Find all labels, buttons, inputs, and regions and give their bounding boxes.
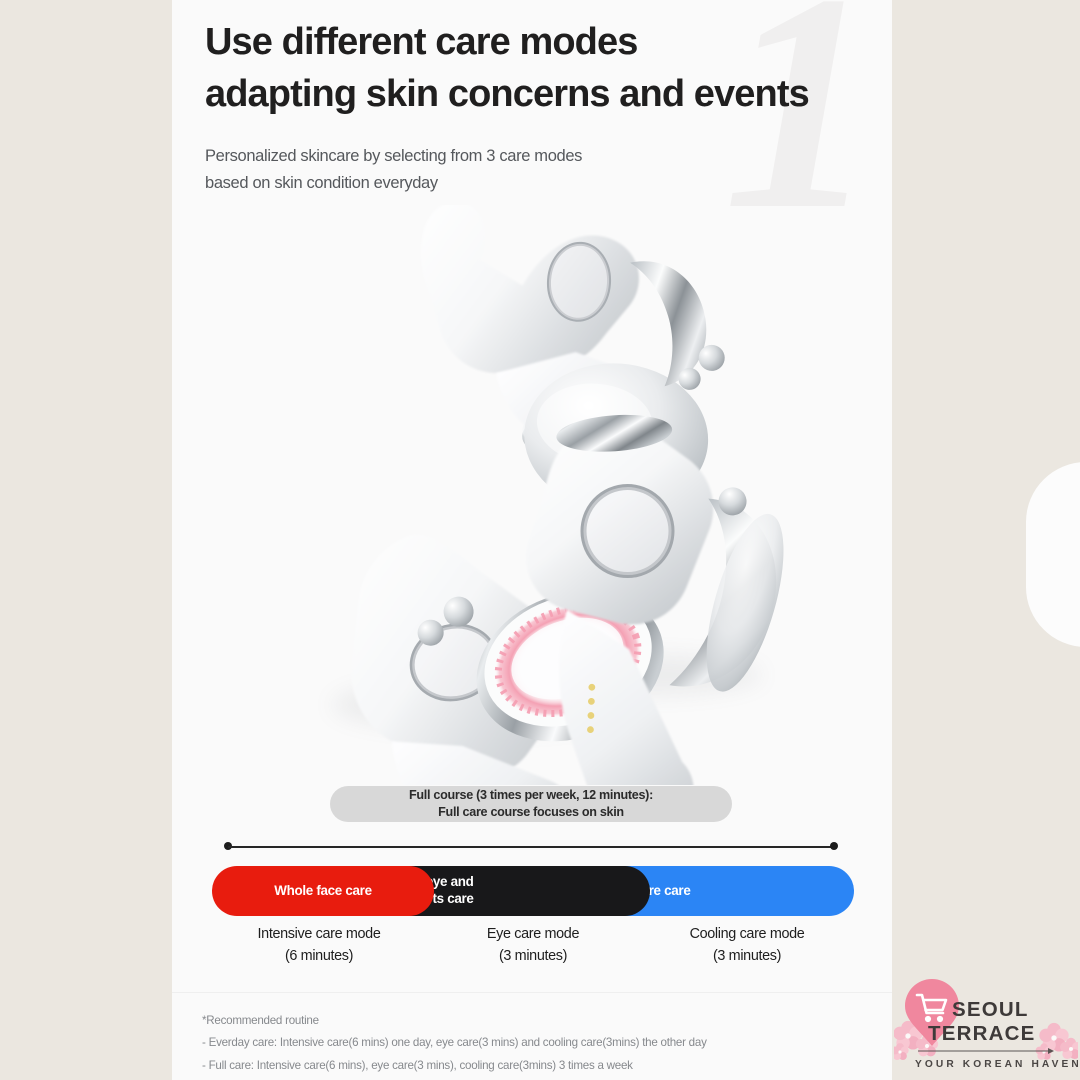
mode-label-intensive-duration: (6 minutes) xyxy=(212,946,426,968)
brand-tagline: YOUR KOREAN HAVEN xyxy=(915,1059,1078,1070)
notes-line-1: - Everday care: Intensive care(6 mins) o… xyxy=(202,1032,882,1054)
full-course-line-1: Full course (3 times per week, 12 minute… xyxy=(409,787,653,804)
full-course-line-2: Full care course focuses on skin xyxy=(438,804,624,821)
mode-label-cooling-name: Cooling care mode xyxy=(640,924,854,946)
right-edge-bulge-shape xyxy=(1026,462,1080,647)
notes-heading: *Recommended routine xyxy=(202,1010,882,1032)
product-detail-page-panel: 1 Use different care modes adapting skin… xyxy=(172,0,892,1080)
mode-segment-whole-face: Whole face care xyxy=(212,866,434,916)
mode-segment-around-eye-label: Around eye and small parts care xyxy=(448,874,474,908)
page-title-line-1: Use different care modes xyxy=(205,21,637,63)
mode-label-cooling-duration: (3 minutes) xyxy=(640,946,854,968)
cherry-blossom-icon xyxy=(1036,1023,1078,1060)
timeline-end-dot xyxy=(830,842,838,850)
page-subtitle-line-2: based on skin condition everyday xyxy=(205,174,438,192)
mode-segment-whole-face-label: Whole face care xyxy=(274,883,371,900)
page-subtitle: Personalized skincare by selecting from … xyxy=(205,143,855,196)
mode-label-eye: Eye care mode (3 minutes) xyxy=(426,924,640,967)
brand-name-line-1: SEOUL xyxy=(952,998,1029,1021)
brand-watermark: SEOUL TERRACE YOUR KOREAN HAVEN xyxy=(894,972,1078,1076)
page-subtitle-line-1: Personalized skincare by selecting from … xyxy=(205,147,582,165)
heading-block: Use different care modes adapting skin c… xyxy=(205,16,855,196)
care-mode-bar: Soothing and pore care Around eye and sm… xyxy=(212,866,854,916)
mode-label-intensive-name: Intensive care mode xyxy=(212,924,426,946)
mode-label-eye-name: Eye care mode xyxy=(426,924,640,946)
hero-product-image xyxy=(172,205,892,785)
mode-label-cooling: Cooling care mode (3 minutes) xyxy=(640,924,854,967)
section-divider xyxy=(172,992,892,993)
brand-name-line-2: TERRACE xyxy=(928,1022,1036,1045)
mode-label-eye-duration: (3 minutes) xyxy=(426,946,640,968)
page-title: Use different care modes adapting skin c… xyxy=(205,16,855,121)
recommended-routine-notes: *Recommended routine - Everday care: Int… xyxy=(202,1010,882,1077)
full-course-callout: Full course (3 times per week, 12 minute… xyxy=(330,786,732,822)
timeline-line xyxy=(228,846,834,848)
care-mode-labels: Intensive care mode (6 minutes) Eye care… xyxy=(212,924,854,967)
course-timeline-axis xyxy=(224,842,838,852)
notes-line-2: - Full care: Intensive care(6 mins), eye… xyxy=(202,1055,882,1077)
brand-arrow-rule xyxy=(918,1048,1054,1054)
mode-label-intensive: Intensive care mode (6 minutes) xyxy=(212,924,426,967)
page-title-line-2: adapting skin concerns and events xyxy=(205,73,809,115)
